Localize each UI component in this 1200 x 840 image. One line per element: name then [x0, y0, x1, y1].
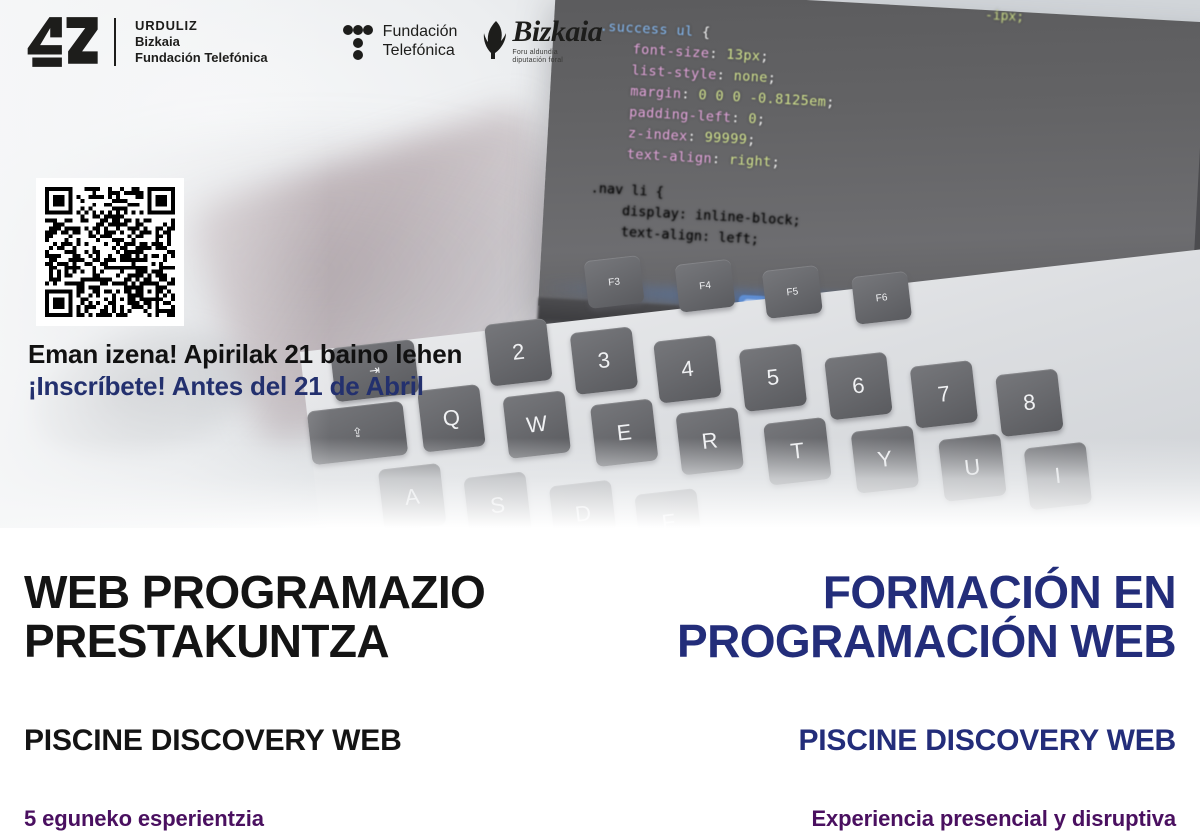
keyboard-key: 7	[910, 360, 979, 429]
telefonica-line1: Fundación	[383, 23, 458, 42]
code-top-fragment: -ipx;	[985, 8, 1025, 25]
logo-fundacion-telefonica: Fundación Telefónica	[342, 23, 458, 61]
logo-42-line2: Bizkaia	[135, 34, 268, 50]
bizkaia-sub-line1: Foru aldundia	[512, 49, 602, 58]
keyboard-key: 6	[824, 352, 893, 421]
keyboard-key: 4	[653, 335, 722, 404]
keyboard-key: 8	[995, 368, 1064, 437]
qr-code-icon	[45, 187, 175, 317]
keyboard-key: 3	[570, 326, 639, 395]
bizkaia-sub: Foru aldundia diputación foral	[512, 49, 602, 67]
bizkaia-sub-line2: diputación foral	[512, 57, 602, 66]
logo-row: URDULIZ Bizkaia Fundación Telefónica Fun…	[26, 14, 602, 70]
hero-photo: -ipx; .success ul { font-size: 13px; lis…	[0, 0, 1200, 528]
column-spanish: FORMACIÓN EN PROGRAMACIÓN WEB PISCINE DI…	[616, 568, 1176, 840]
logo-42-school: URDULIZ Bizkaia Fundación Telefónica	[26, 14, 268, 70]
logo-divider	[114, 18, 116, 66]
logo-42-text: URDULIZ Bizkaia Fundación Telefónica	[135, 18, 268, 66]
code-block-lower: .nav li { display: inline-block; text-al…	[588, 178, 803, 253]
keyboard-key: F4	[675, 259, 736, 313]
cta-spanish: ¡Inscríbete! Antes del 21 de Abril	[28, 372, 462, 402]
telefonica-dots-icon	[342, 24, 374, 60]
keyboard-key: 2	[484, 318, 553, 387]
bottom-panel: WEB PROGRAMAZIO PRESTAKUNTZA PISCINE DIS…	[0, 528, 1200, 840]
column-basque: WEB PROGRAMAZIO PRESTAKUNTZA PISCINE DIS…	[24, 568, 584, 840]
logo-42-line1: URDULIZ	[135, 18, 268, 34]
subtitle-basque: PISCINE DISCOVERY WEB	[24, 666, 584, 758]
keyboard-key: F6	[851, 271, 912, 325]
42-logo-icon	[26, 14, 104, 70]
qr-code[interactable]	[36, 178, 184, 326]
bizkaia-wordmark: Bizkaia	[512, 18, 602, 47]
cta-block: Eman izena! Apirilak 21 baino lehen ¡Ins…	[28, 340, 462, 401]
logo-bizkaia: Bizkaia Foru aldundia diputación foral	[483, 18, 602, 66]
code-block: .success ul { font-size: 13px; list-styl…	[592, 17, 1159, 195]
keyboard-key: 5	[739, 343, 808, 412]
logo-42-line3: Fundación Telefónica	[135, 50, 268, 66]
bizkaia-leaf-icon	[483, 20, 509, 60]
cta-basque: Eman izena! Apirilak 21 baino lehen	[28, 340, 462, 370]
telefonica-line2: Telefónica	[383, 42, 458, 61]
title-spanish: FORMACIÓN EN PROGRAMACIÓN WEB	[616, 568, 1176, 666]
subtitle-spanish: PISCINE DISCOVERY WEB	[616, 666, 1176, 758]
bizkaia-text: Bizkaia Foru aldundia diputación foral	[512, 18, 602, 66]
telefonica-text: Fundación Telefónica	[383, 23, 458, 61]
keyboard-key: F5	[762, 265, 823, 319]
keyboard-key: F3	[584, 255, 645, 309]
tagline-spanish: Experiencia presencial y disruptiva	[616, 758, 1176, 832]
title-basque: WEB PROGRAMAZIO PRESTAKUNTZA	[24, 568, 584, 666]
palmrest-fade	[0, 438, 1200, 528]
poster: -ipx; .success ul { font-size: 13px; lis…	[0, 0, 1200, 840]
tagline-basque: 5 eguneko esperientzia	[24, 758, 584, 832]
